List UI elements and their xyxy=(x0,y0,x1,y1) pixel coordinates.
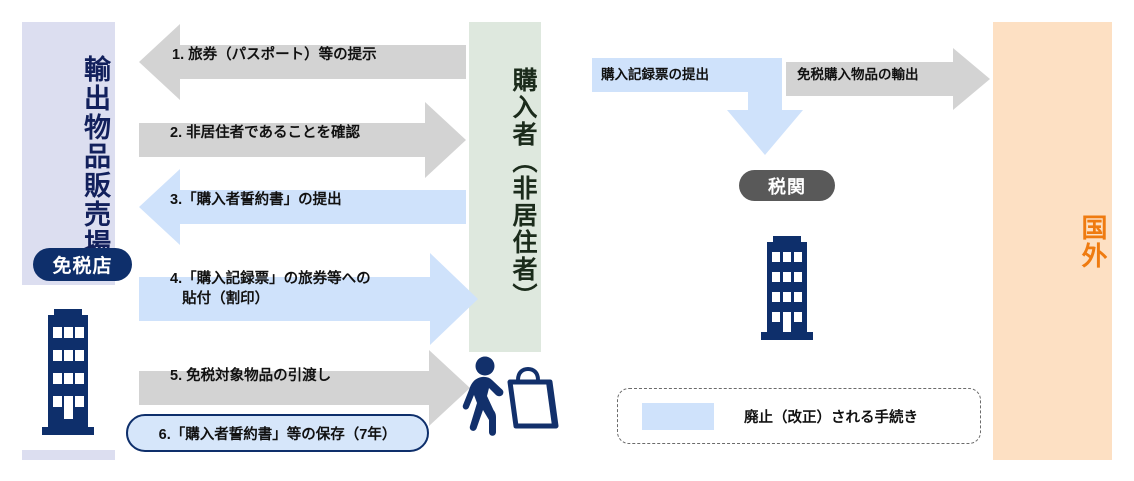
legend-label: 廃止（改正）される手続き xyxy=(744,406,918,427)
arrow-label-submit-purchase-record: 購入記録票の提出 xyxy=(601,66,709,84)
column-label-export-goods-shop: 輸出物品販売場 xyxy=(22,40,115,272)
step-6-retention-box: 6.「購入者誓約書」等の保存（7年） xyxy=(126,414,429,452)
arrow-label-step-5: 5. 免税対象物品の引渡し xyxy=(170,367,331,387)
arrow-label-step-4: 4.「購入記録票」の旅券等への 貼付（割印） xyxy=(170,270,371,309)
arrow-label-export-tax-free-goods: 免税購入物品の輸出 xyxy=(797,66,919,84)
traveler-walking-icon xyxy=(463,357,504,436)
legend: 廃止（改正）される手続き xyxy=(617,388,981,444)
badge-customs: 税関 xyxy=(739,170,835,201)
office-building-icon xyxy=(761,236,813,340)
step-6-label: 6.「購入者誓約書」等の保存（7年） xyxy=(159,423,397,444)
badge-duty-free-shop: 免税店 xyxy=(33,248,132,281)
column-buyer: 購入者（非居住者） xyxy=(469,22,541,352)
shop-building-backdrop xyxy=(22,285,137,450)
arrow-label-step-3: 3.「購入者誓約書」の提出 xyxy=(170,191,342,211)
arrow-label-step-2: 2. 非居住者であることを確認 xyxy=(170,124,360,144)
column-abroad: 国外 xyxy=(993,22,1112,460)
diagram-canvas: 輸出物品販売場 購入者（非居住者） 国外 xyxy=(0,0,1134,481)
column-label-abroad: 国外 xyxy=(993,187,1112,297)
legend-color-swatch xyxy=(642,403,714,430)
column-label-buyer: 購入者（非居住者） xyxy=(469,38,541,338)
shopping-bag-icon xyxy=(510,369,556,426)
arrow-label-step-1: 1. 旅券（パスポート）等の提示 xyxy=(172,46,377,66)
